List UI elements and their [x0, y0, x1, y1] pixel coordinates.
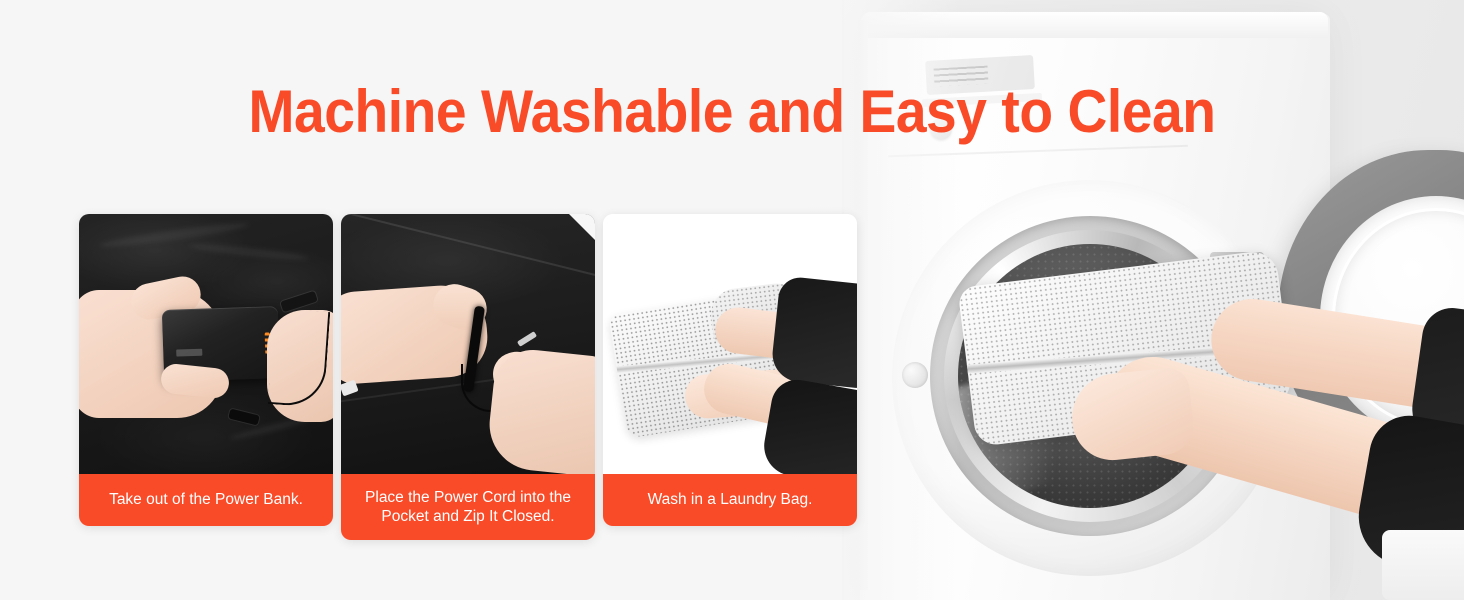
- step-caption-3: Wash in a Laundry Bag.: [603, 474, 857, 526]
- right-hand: [485, 346, 595, 474]
- step-photo-zip-pocket: [341, 214, 595, 474]
- step-photo-power-bank: [79, 214, 333, 474]
- corner-notch: [569, 214, 595, 240]
- step-card-3[interactable]: Wash in a Laundry Bag.: [603, 214, 857, 526]
- brand-logo: [176, 349, 202, 357]
- step-caption-2: Place the Power Cord into the Pocket and…: [341, 474, 595, 540]
- page-title: Machine Washable and Easy to Clean: [59, 78, 1406, 146]
- step-card-1[interactable]: Take out of the Power Bank.: [79, 214, 333, 526]
- step-card-2[interactable]: Place the Power Cord into the Pocket and…: [341, 214, 595, 540]
- black-sleeve-upper: [770, 275, 857, 388]
- washer-base: [1382, 530, 1464, 600]
- machine-washable-banner: Machine Washable and Easy to Clean: [0, 0, 1464, 600]
- step-caption-1: Take out of the Power Bank.: [79, 474, 333, 526]
- step-photo-laundry-bag: [603, 214, 857, 474]
- steps-list: Take out of the Power Bank. Place the Po…: [79, 214, 857, 540]
